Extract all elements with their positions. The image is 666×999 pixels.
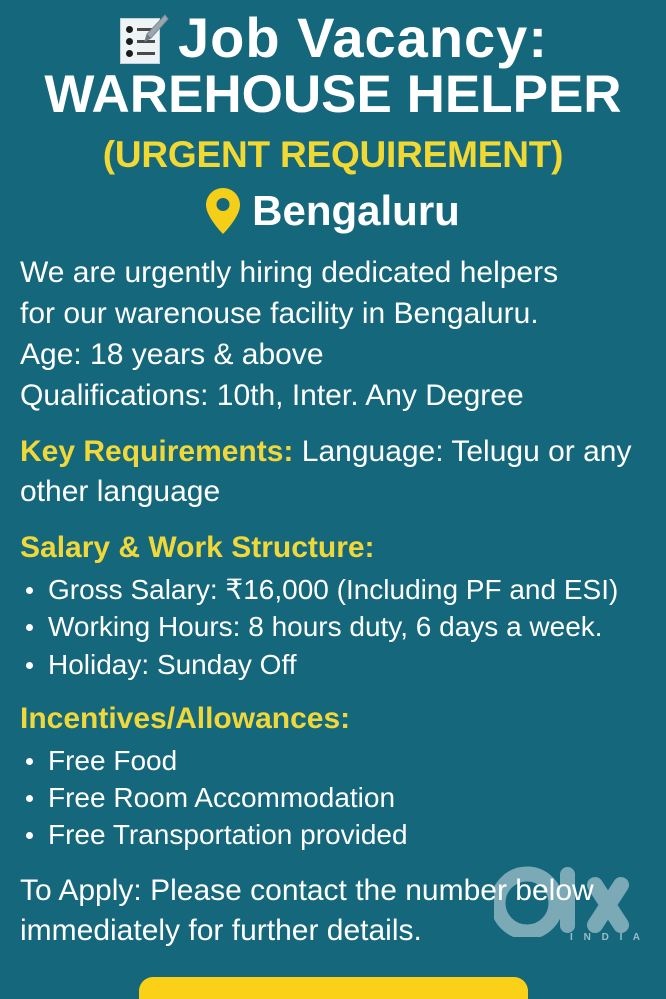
location-line: Bengaluru xyxy=(0,187,666,235)
salary-section-list: Gross Salary: ₹16,000 (Including PF and … xyxy=(20,571,650,683)
incentives-section-heading: Incentives/Allowances: xyxy=(20,699,650,738)
apply-line-1: To Apply: Please contact the number belo… xyxy=(20,874,594,907)
list-item: Holiday: Sunday Off xyxy=(20,646,650,683)
age-requirement: Age: 18 years & above xyxy=(20,335,650,376)
poster-header: Job Vacancy: WAREHOUSE HELPER (URGENT RE… xyxy=(0,0,666,235)
poster-body: We are urgently hiring dedicated helpers… xyxy=(0,253,666,951)
list-item: Free Transportation provided xyxy=(20,816,650,853)
title-line-job-vacancy: Job Vacancy: xyxy=(0,8,666,67)
intro-paragraph: We are urgently hiring dedicated helpers… xyxy=(20,253,650,416)
urgency-subtitle: (URGENT REQUIREMENT) xyxy=(0,133,666,177)
apply-instructions: To Apply: Please contact the number belo… xyxy=(20,871,650,951)
key-requirements-label: Key Requirements: xyxy=(20,435,293,468)
qualifications-requirement: Qualifications: 10th, Inter. Any Degree xyxy=(20,376,650,417)
intro-line-2: for our warenouse facility in Bengaluru. xyxy=(20,294,650,335)
contact-cta-button[interactable] xyxy=(139,977,528,999)
location-pin-icon xyxy=(206,188,240,234)
list-item: Free Room Accommodation xyxy=(20,779,650,816)
page-title-role: WAREHOUSE HELPER xyxy=(0,65,666,124)
list-item: Gross Salary: ₹16,000 (Including PF and … xyxy=(20,571,650,608)
job-vacancy-poster: Job Vacancy: WAREHOUSE HELPER (URGENT RE… xyxy=(0,0,666,999)
list-item: Working Hours: 8 hours duty, 6 days a we… xyxy=(20,608,650,645)
key-requirements-block: Key Requirements: Language: Telugu or an… xyxy=(20,432,650,512)
intro-line-1: We are urgently hiring dedicated helpers xyxy=(20,253,650,294)
apply-line-2: immediately for further details. xyxy=(20,914,422,947)
memo-note-pencil-icon xyxy=(118,12,168,68)
location-label: Bengaluru xyxy=(252,187,460,235)
list-item: Free Food xyxy=(20,742,650,779)
incentives-section-list: Free Food Free Room Accommodation Free T… xyxy=(20,742,650,854)
salary-section-heading: Salary & Work Structure: xyxy=(20,528,650,567)
page-title-prefix: Job Vacancy: xyxy=(178,8,548,67)
